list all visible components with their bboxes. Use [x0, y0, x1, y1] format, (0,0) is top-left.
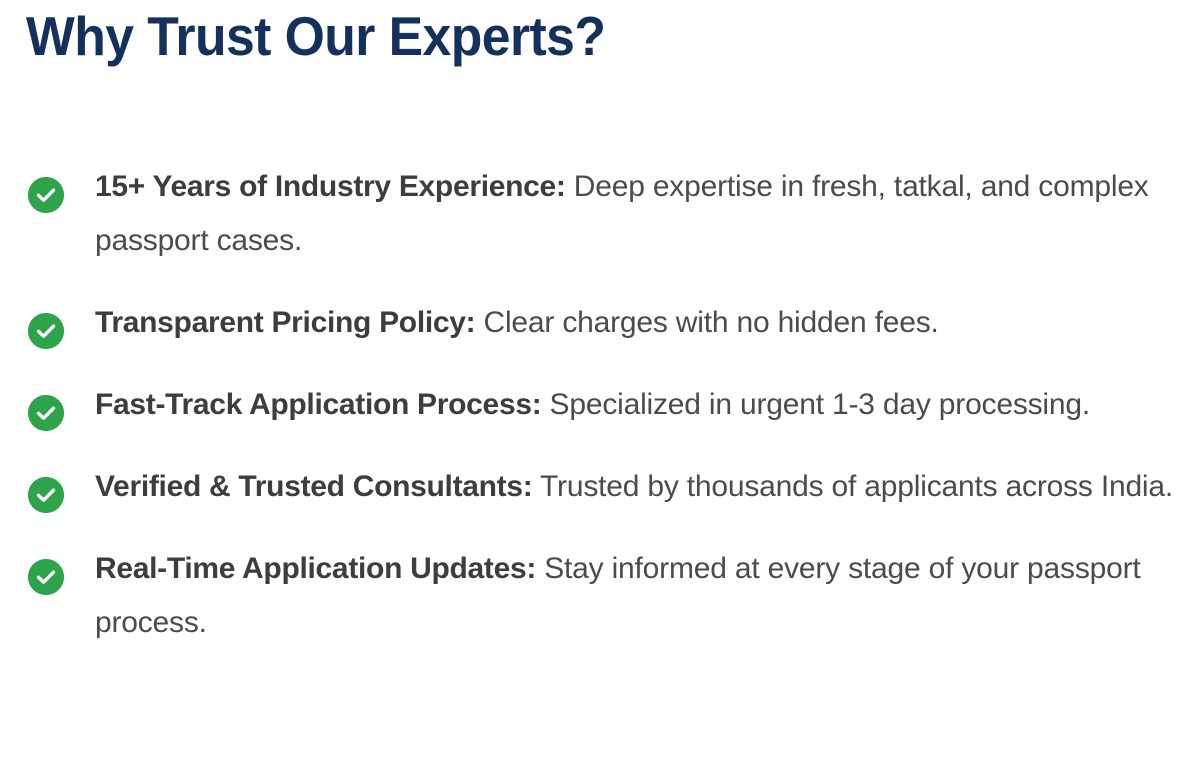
benefit-description: Clear charges with no hidden fees.	[484, 306, 939, 339]
benefit-item-pricing: Transparent Pricing Policy: Clear charge…	[0, 296, 1199, 350]
check-circle-icon	[28, 559, 64, 595]
benefit-item-realtime-updates: Real-Time Application Updates: Stay info…	[0, 542, 1199, 650]
benefit-text: Transparent Pricing Policy: Clear charge…	[95, 296, 1191, 350]
benefit-item-verified: Verified & Trusted Consultants: Trusted …	[0, 460, 1199, 514]
benefit-label: Fast-Track Application Process:	[95, 388, 541, 421]
check-circle-icon	[28, 395, 64, 431]
why-trust-section: Why Trust Our Experts? 15+ Years of Indu…	[0, 0, 1199, 778]
benefit-text: Verified & Trusted Consultants: Trusted …	[95, 460, 1191, 514]
check-circle-icon	[28, 313, 64, 349]
benefit-text: 15+ Years of Industry Experience: Deep e…	[95, 160, 1191, 268]
check-circle-icon	[28, 477, 64, 513]
benefit-item-experience: 15+ Years of Industry Experience: Deep e…	[0, 160, 1199, 268]
benefit-text: Fast-Track Application Process: Speciali…	[95, 378, 1191, 432]
benefit-description: Trusted by thousands of applicants acros…	[540, 470, 1173, 503]
benefit-label: Transparent Pricing Policy:	[95, 306, 475, 339]
page-title: Why Trust Our Experts?	[26, 4, 605, 69]
benefit-description: Specialized in urgent 1-3 day processing…	[550, 388, 1090, 421]
benefits-list: 15+ Years of Industry Experience: Deep e…	[0, 160, 1199, 650]
benefit-item-fast-track: Fast-Track Application Process: Speciali…	[0, 378, 1199, 432]
benefit-label: Real-Time Application Updates:	[95, 552, 536, 585]
benefit-label: 15+ Years of Industry Experience:	[95, 170, 566, 203]
benefit-text: Real-Time Application Updates: Stay info…	[95, 542, 1191, 650]
check-circle-icon	[28, 177, 64, 213]
benefit-label: Verified & Trusted Consultants:	[95, 470, 532, 503]
